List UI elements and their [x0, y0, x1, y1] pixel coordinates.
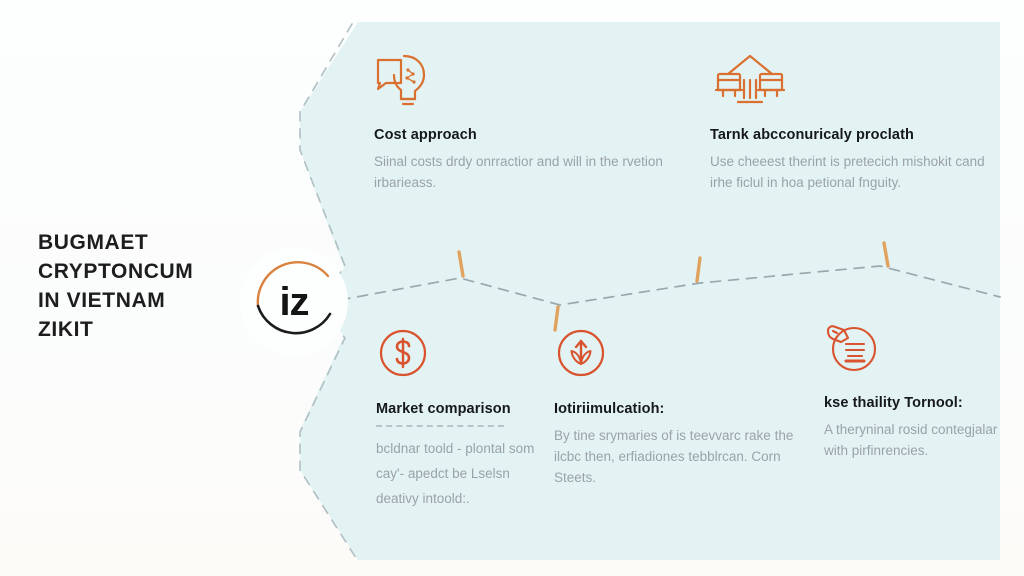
card-cost-approach: Cost approach Siinal costs drdy onrracti… [374, 52, 674, 193]
title-line-3: IN VIETNAM [38, 286, 268, 315]
card-body: Siinal costs drdy onrractior and will in… [374, 151, 674, 193]
logo-wordmark: iz [240, 248, 348, 356]
infographic-canvas: BUGMAET CRYPTONCUM IN VIETNAM ZIKIT iz [0, 0, 1024, 576]
card-valuation: Iotiriimulcatioh: By tine srymaries of i… [554, 326, 804, 488]
card-body: Use cheeest therint is pretecich mishoki… [710, 151, 990, 193]
bank-building-icon [710, 52, 990, 114]
card-quality-control: kse thaility Tornool: A theryninal rosid… [824, 320, 1009, 461]
card-body: A theryninal rosid contegjalar with pirf… [824, 419, 1009, 461]
connector-tick-4 [884, 243, 888, 266]
card-market-comparison: Market comparison bcldnar toold - plonta… [376, 326, 536, 511]
hand-document-circle-icon [824, 320, 1009, 382]
card-heading: Cost approach [374, 126, 674, 144]
dollar-circle-icon [376, 326, 536, 388]
page-title: BUGMAET CRYPTONCUM IN VIETNAM ZIKIT [38, 228, 268, 344]
connector-tick-3 [697, 258, 700, 281]
connector-tick-marks [459, 243, 888, 330]
leaf-arrow-circle-icon [554, 326, 804, 388]
card-heading: Market comparison [376, 400, 536, 418]
card-divider [376, 425, 504, 427]
iz-logo-badge: iz [240, 248, 348, 356]
card-heading: Iotiriimulcatioh: [554, 400, 804, 418]
card-body: bcldnar toold - plontal som cay'- apedct… [376, 436, 536, 511]
card-heading: Tarnk abcconuricaly proclath [710, 126, 990, 144]
title-line-1: BUGMAET [38, 228, 268, 257]
card-body: By tine srymaries of is teevvarc rake th… [554, 425, 804, 488]
card-bank-approach: Tarnk abcconuricaly proclath Use cheeest… [710, 52, 990, 193]
title-line-2: CRYPTONCUM [38, 257, 268, 286]
connector-tick-1 [459, 252, 463, 276]
card-heading: kse thaility Tornool: [824, 394, 1009, 412]
dashed-zigzag-connector [340, 266, 1000, 305]
title-line-4: ZIKIT [38, 315, 268, 344]
document-head-profile-icon [374, 52, 674, 114]
